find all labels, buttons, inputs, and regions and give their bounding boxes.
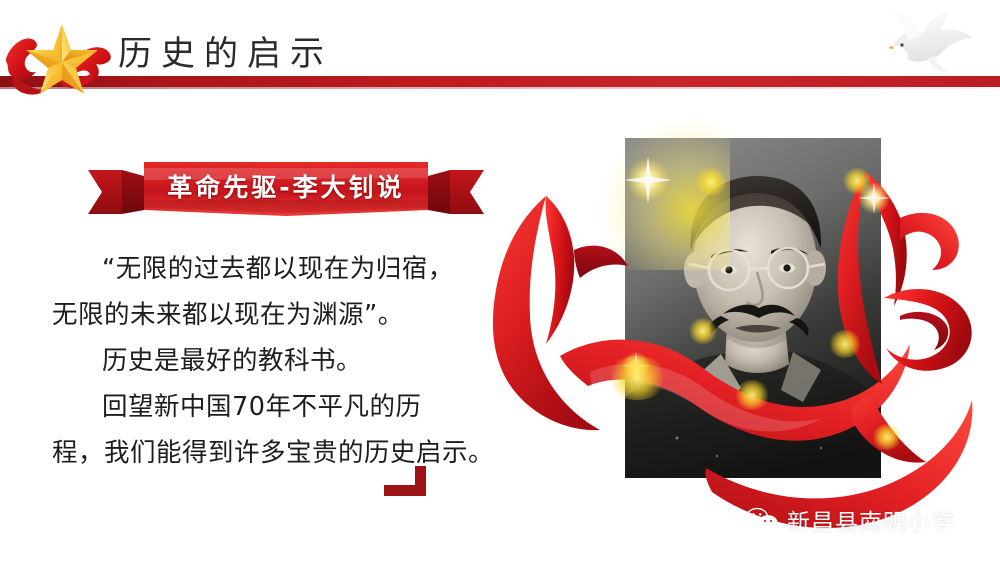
watermark-text: 新昌县南明小学 xyxy=(787,503,955,537)
header-red-bar-shadow xyxy=(0,86,1000,89)
white-dove-icon xyxy=(876,4,980,78)
wechat-icon xyxy=(745,507,779,533)
corner-bracket-accent xyxy=(384,466,426,496)
gold-star-with-red-ribbon-icon xyxy=(2,14,122,106)
portrait-photo xyxy=(625,138,881,478)
page-title: 历史的启示 xyxy=(118,26,333,75)
body-text-block: “无限的过去都以现在为归宿， 无限的未来都以现在为渊源”。 历史是最好的教科书。… xyxy=(52,246,522,476)
body-line: 程，我们能得到许多宝贵的历史启示。 xyxy=(52,430,522,476)
banner-label: 革命先驱-李大钊说 xyxy=(86,168,486,204)
watermark: 新昌县南明小学 xyxy=(745,503,955,537)
body-line: “无限的过去都以现在为归宿， xyxy=(52,246,522,292)
body-line: 无限的未来都以现在为渊源”。 xyxy=(52,292,522,338)
body-line: 历史是最好的教科书。 xyxy=(52,338,522,384)
slide-canvas: 历史的启示 xyxy=(0,0,1000,563)
body-line: 回望新中国70年不平凡的历 xyxy=(52,384,522,430)
